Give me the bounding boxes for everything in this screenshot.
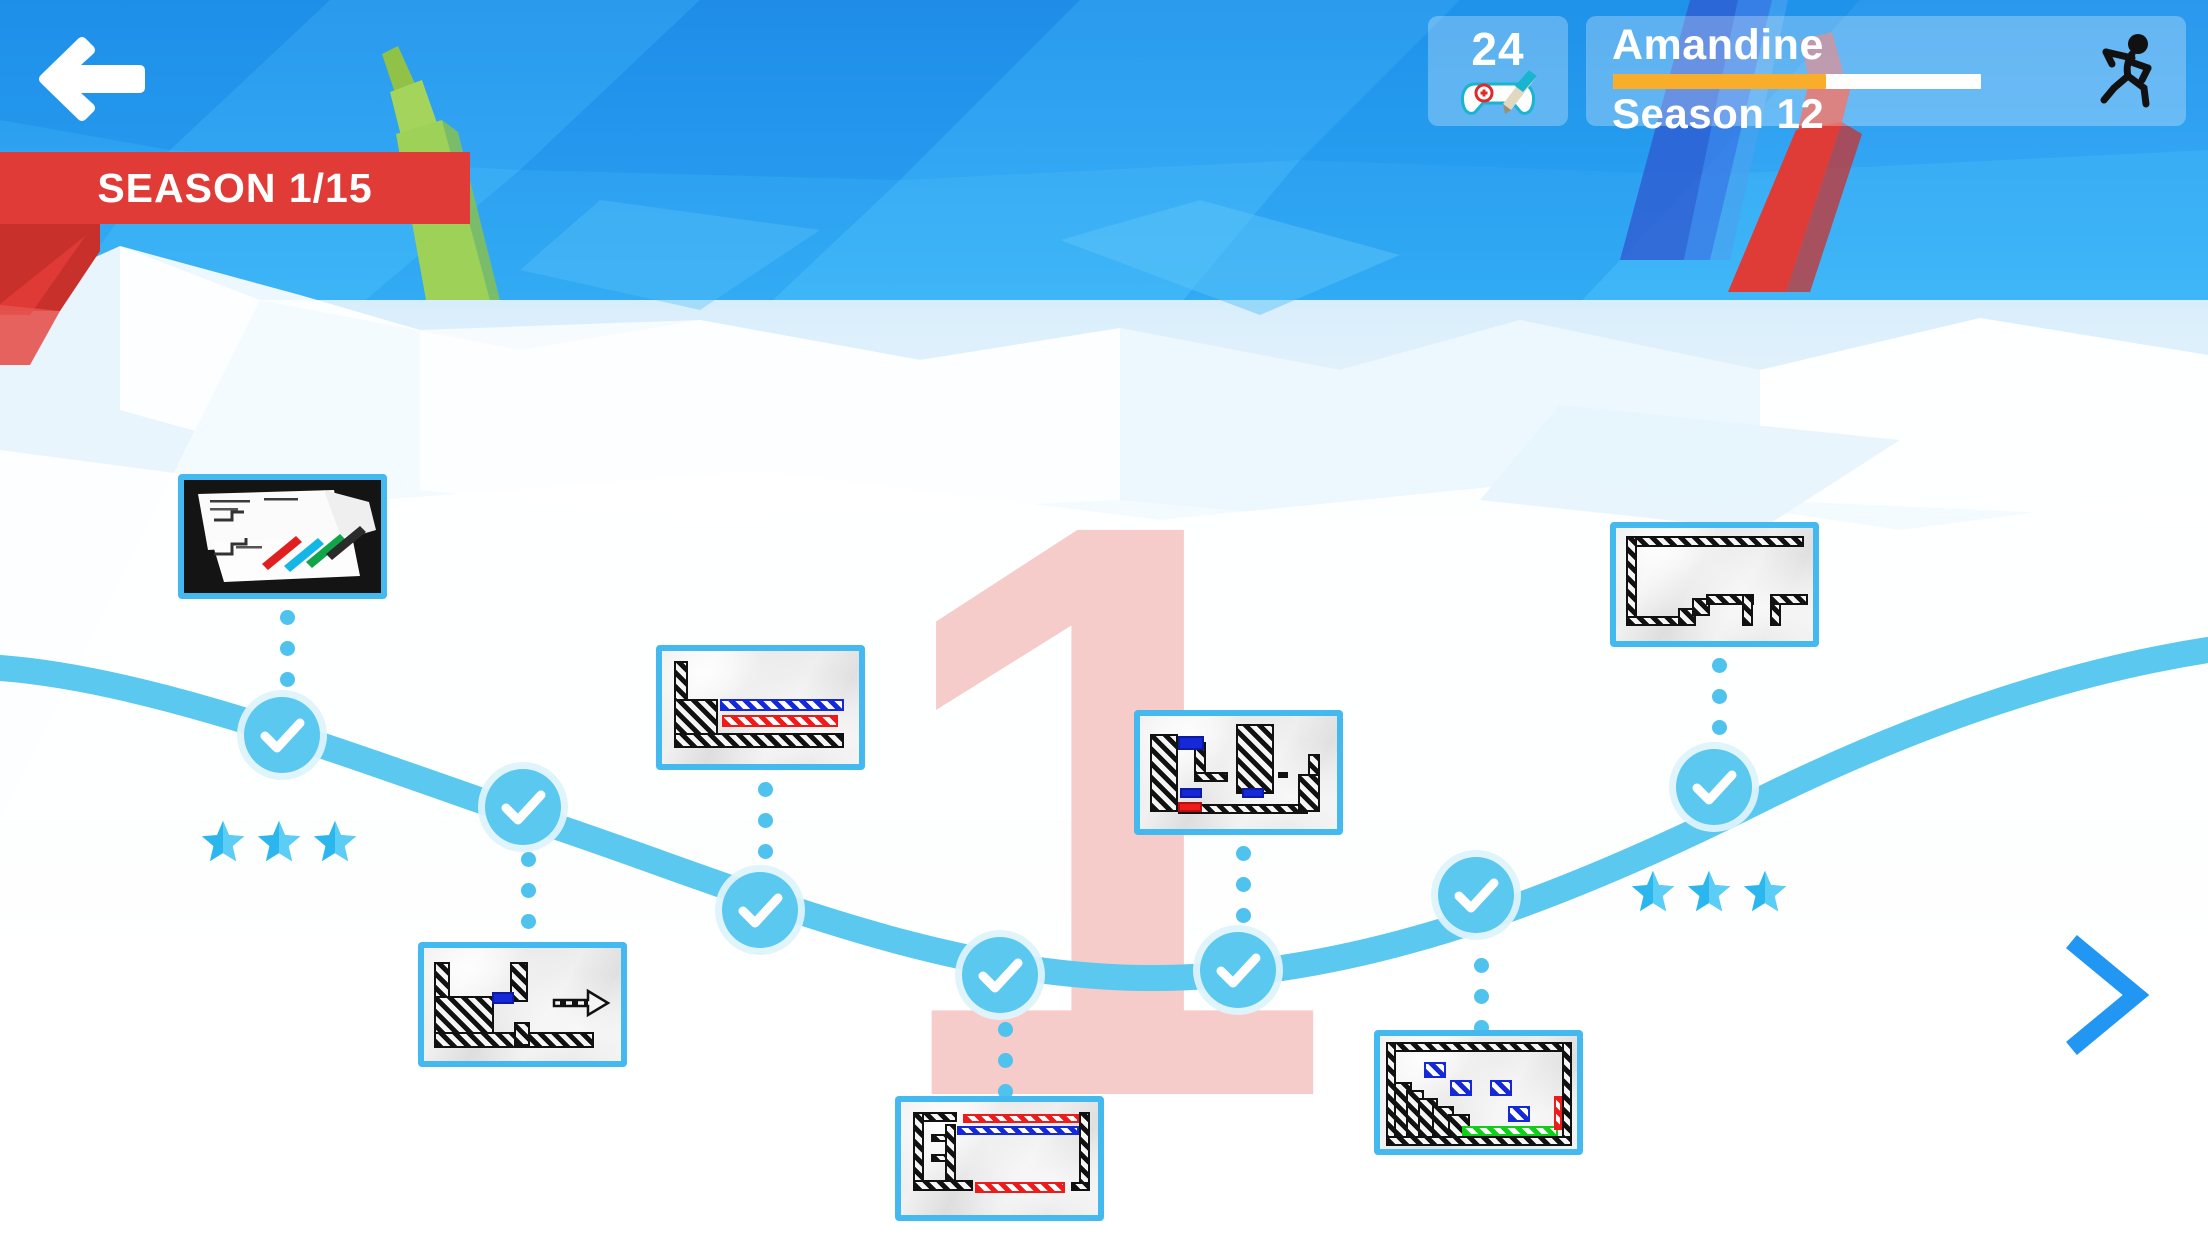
level-block-wall [1386, 1042, 1572, 1052]
thumb-paper-background [1140, 716, 1337, 829]
level-thumbnail-7[interactable] [1610, 522, 1819, 647]
level-block-wall [1562, 1042, 1572, 1144]
profile-season-label: Season 12 [1612, 90, 1824, 138]
back-button[interactable] [38, 32, 148, 122]
check-icon [1438, 857, 1514, 933]
thumb-paper-background [901, 1102, 1098, 1215]
check-icon [722, 872, 798, 948]
level-block-wall [1194, 772, 1228, 782]
thumb-photo-background [184, 480, 381, 593]
arrow-left-icon [38, 32, 148, 122]
level-block-small [1278, 772, 1288, 778]
star-icon [1630, 868, 1676, 914]
xp-bar-track [1613, 74, 1981, 89]
exit-arrow-icon [552, 988, 612, 1018]
level-node-5[interactable] [1200, 932, 1276, 1008]
level-block-blue [1424, 1062, 1446, 1078]
level-block-red [963, 1114, 1079, 1123]
level-block-wall [1298, 774, 1320, 812]
level-node-4[interactable] [962, 937, 1038, 1013]
check-icon [244, 697, 320, 773]
level-block-wall [1626, 536, 1637, 626]
level-block-red [1178, 802, 1202, 812]
gamepad-marker-icon [1459, 70, 1537, 120]
paper-and-pens-photo [184, 480, 381, 593]
level-block-wall [514, 1022, 530, 1046]
xp-bar-fill [1613, 74, 1826, 89]
level-block-wall [913, 1180, 973, 1191]
thumb-paper-background [1380, 1036, 1577, 1149]
profile-name: Amandine [1612, 21, 1824, 70]
level-block-blue [1178, 736, 1204, 750]
check-icon [1200, 932, 1276, 1008]
level-block-green [1462, 1126, 1558, 1136]
snow-background [0, 300, 2208, 1242]
level-block-wall [1770, 594, 1808, 605]
thumb-paper-background [424, 948, 621, 1061]
thumb-paper-background [662, 651, 859, 764]
star-icon [1686, 868, 1732, 914]
star-icon [200, 818, 246, 864]
level-block-wall [1079, 1112, 1090, 1188]
level-node-3[interactable] [722, 872, 798, 948]
level-block-wall [1150, 734, 1178, 812]
level-block-red [722, 715, 838, 727]
level-node-7[interactable] [1676, 749, 1752, 825]
level-block-blue [1180, 788, 1202, 798]
level-block-wall [1071, 1182, 1090, 1191]
level-block-blue [1490, 1080, 1512, 1096]
level-thumbnail-4[interactable] [895, 1096, 1104, 1221]
star-rating-node-7 [1630, 868, 1788, 914]
level-block-wall [1626, 536, 1804, 547]
level-block-red [975, 1182, 1065, 1193]
chevron-right-icon [2060, 935, 2160, 1055]
level-thumbnail-6[interactable] [1374, 1030, 1583, 1155]
level-block-wall [1742, 594, 1753, 626]
level-thumbnail-3[interactable] [656, 645, 865, 770]
star-rating-node-1 [200, 818, 358, 864]
check-icon [962, 937, 1038, 1013]
next-season-button[interactable] [2060, 935, 2160, 1055]
level-node-2[interactable] [485, 769, 561, 845]
level-node-1[interactable] [244, 697, 320, 773]
season-banner: SEASON 1/15 [0, 152, 470, 224]
level-thumbnail-5[interactable] [1134, 710, 1343, 835]
level-node-6[interactable] [1438, 857, 1514, 933]
level-block-blue [957, 1126, 1079, 1135]
level-block-wall [931, 1154, 947, 1162]
level-thumbnail-2[interactable] [418, 942, 627, 1067]
level-block-blue [1242, 788, 1264, 798]
level-thumbnail-1[interactable] [178, 474, 387, 599]
running-stickman-icon [2086, 30, 2168, 112]
level-block-wall [945, 1124, 956, 1182]
level-block-wall [1626, 616, 1686, 626]
check-icon [485, 769, 561, 845]
level-block-wall [674, 733, 844, 748]
level-block-wall [913, 1112, 924, 1190]
star-icon [256, 818, 302, 864]
level-block-wall [931, 1134, 947, 1142]
level-block-blue [720, 699, 844, 711]
game-screen: 1 [0, 0, 2208, 1242]
thumb-paper-background [1616, 528, 1813, 641]
star-icon [312, 818, 358, 864]
star-icon [1742, 868, 1788, 914]
level-block-red [1554, 1096, 1562, 1130]
level-block-blue [492, 992, 514, 1004]
check-icon [1676, 749, 1752, 825]
currency-count: 24 [1428, 22, 1568, 76]
level-block-blue [1508, 1106, 1530, 1122]
profile-box[interactable]: Amandine Season 12 [1586, 16, 2186, 126]
level-block-wall [1236, 724, 1274, 794]
currency-box[interactable]: 24 [1428, 16, 1568, 126]
season-banner-label: SEASON 1/15 [97, 165, 372, 212]
level-block-blue [1450, 1080, 1472, 1096]
banner-tail [0, 224, 100, 304]
